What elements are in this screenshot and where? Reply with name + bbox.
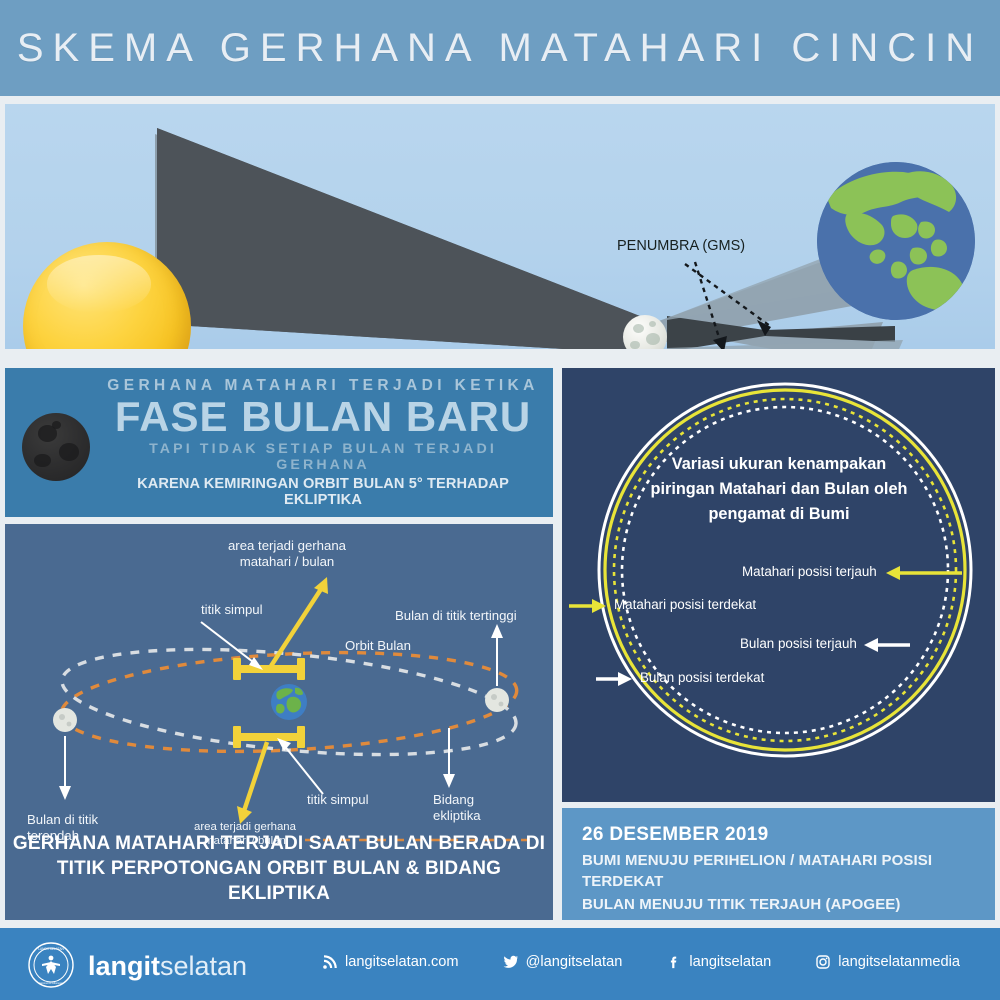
label-node-top: titik simpul	[201, 602, 263, 618]
apparent-size-title-line2: piringan Matahari dan Bulan oleh	[616, 477, 942, 502]
orbit-diagram-panel: area terjadi gerhana matahari / bulan ti…	[5, 524, 553, 920]
footer-link-instagram-label: langitselatanmedia	[838, 954, 960, 970]
page-footer: LANGITSELATAN Astronomi Indonesia langit…	[0, 928, 1000, 1000]
footer-link-twitter[interactable]: @langitselatan	[503, 954, 623, 970]
label-bidang-ekliptika-line1: Bidang	[433, 792, 481, 808]
footer-link-instagram[interactable]: langitselatanmedia	[815, 954, 960, 970]
new-moon-headline: FASE BULAN BARU	[103, 396, 543, 439]
twitter-icon	[503, 954, 519, 970]
orbit-caption-line1: GERHANA MATAHARI TERJADI SAAT BULAN BERA…	[5, 831, 553, 856]
label-eclipse-area-top-line1: area terjadi gerhana	[187, 538, 387, 554]
footer-brand-bold: langit	[88, 951, 160, 981]
footer-link-website[interactable]: langitselatan.com	[322, 954, 459, 970]
label-moon-highest: Bulan di titik tertinggi	[395, 608, 517, 624]
langitselatan-seal-logo: LANGITSELATAN Astronomi Indonesia	[28, 942, 74, 988]
new-moon-phase-panel: GERHANA MATAHARI TERJADI KETIKA FASE BUL…	[5, 368, 553, 517]
label-moon-farthest: Bulan posisi terjauh	[740, 636, 857, 651]
footer-link-facebook[interactable]: langitselatan	[666, 954, 771, 970]
new-moon-icon	[22, 413, 90, 481]
label-moon-nearest: Bulan posisi terdekat	[640, 670, 764, 685]
label-eclipse-area-top-line2: matahari / bulan	[187, 554, 387, 570]
label-penumbra: PENUMBRA (GMS)	[617, 238, 745, 254]
infographic-root: SKEMA GERHANA MATAHARI CINCIN	[0, 0, 1000, 1000]
footer-brand: langitselatan	[88, 951, 247, 982]
new-moon-line-3: TAPI TIDAK SETIAP BULAN TERJADI GERHANA	[103, 441, 543, 473]
page-header: SKEMA GERHANA MATAHARI CINCIN	[0, 0, 1000, 96]
label-bidang-ekliptika: Bidang ekliptika	[433, 792, 481, 824]
label-bidang-ekliptika-line2: ekliptika	[433, 808, 481, 824]
earth-icon	[817, 162, 975, 320]
svg-text:LANGITSELATAN: LANGITSELATAN	[38, 947, 64, 951]
footer-link-website-label: langitselatan.com	[345, 954, 459, 970]
footer-links: langitselatan.com @langitselatan langits…	[322, 954, 960, 970]
orbit-caption-line2: TITIK PERPOTONGAN ORBIT BULAN & BIDANG E…	[5, 856, 553, 906]
event-date-panel: 26 DESEMBER 2019 BUMI MENUJU PERIHELION …	[562, 808, 995, 920]
page-title: SKEMA GERHANA MATAHARI CINCIN	[17, 26, 983, 71]
event-date: 26 DESEMBER 2019	[582, 824, 995, 846]
label-node-bottom: titik simpul	[307, 792, 369, 808]
label-sun-nearest: Matahari posisi terdekat	[614, 597, 756, 612]
apparent-size-title-line1: Variasi ukuran kenampakan	[616, 452, 942, 477]
footer-link-facebook-label: langitselatan	[689, 954, 771, 970]
label-moon-lowest-line1: Bulan di titik	[27, 812, 98, 828]
label-sun-farthest: Matahari posisi terjauh	[742, 564, 877, 579]
eclipse-diagram-panel: PENUMBRA (GMS) UMBRA (GMT) ANTUMBRA (GMC…	[5, 104, 995, 349]
event-detail-line2: BULAN MENUJU TITIK TERJAUH (APOGEE)	[582, 894, 995, 915]
label-orbit-bulan: Orbit Bulan	[345, 638, 411, 654]
svg-text:Astronomi Indonesia: Astronomi Indonesia	[39, 981, 63, 985]
apparent-size-panel: Variasi ukuran kenampakan piringan Matah…	[562, 368, 995, 802]
event-detail-line1: BUMI MENUJU PERIHELION / MATAHARI POSISI…	[582, 850, 995, 893]
facebook-icon	[666, 954, 682, 970]
instagram-icon	[815, 954, 831, 970]
label-eclipse-area-top: area terjadi gerhana matahari / bulan	[187, 538, 387, 570]
new-moon-text-block: GERHANA MATAHARI TERJADI KETIKA FASE BUL…	[103, 377, 543, 508]
rss-icon	[322, 954, 338, 970]
orbit-caption: GERHANA MATAHARI TERJADI SAAT BULAN BERA…	[5, 831, 553, 906]
apparent-size-title: Variasi ukuran kenampakan piringan Matah…	[616, 452, 942, 526]
footer-brand-light: selatan	[160, 951, 247, 981]
footer-link-twitter-label: @langitselatan	[526, 954, 623, 970]
apparent-size-circles-graphic	[562, 368, 995, 802]
apparent-size-title-line3: pengamat di Bumi	[616, 502, 942, 527]
new-moon-line-4: KARENA KEMIRINGAN ORBIT BULAN 5° TERHADA…	[103, 476, 543, 508]
